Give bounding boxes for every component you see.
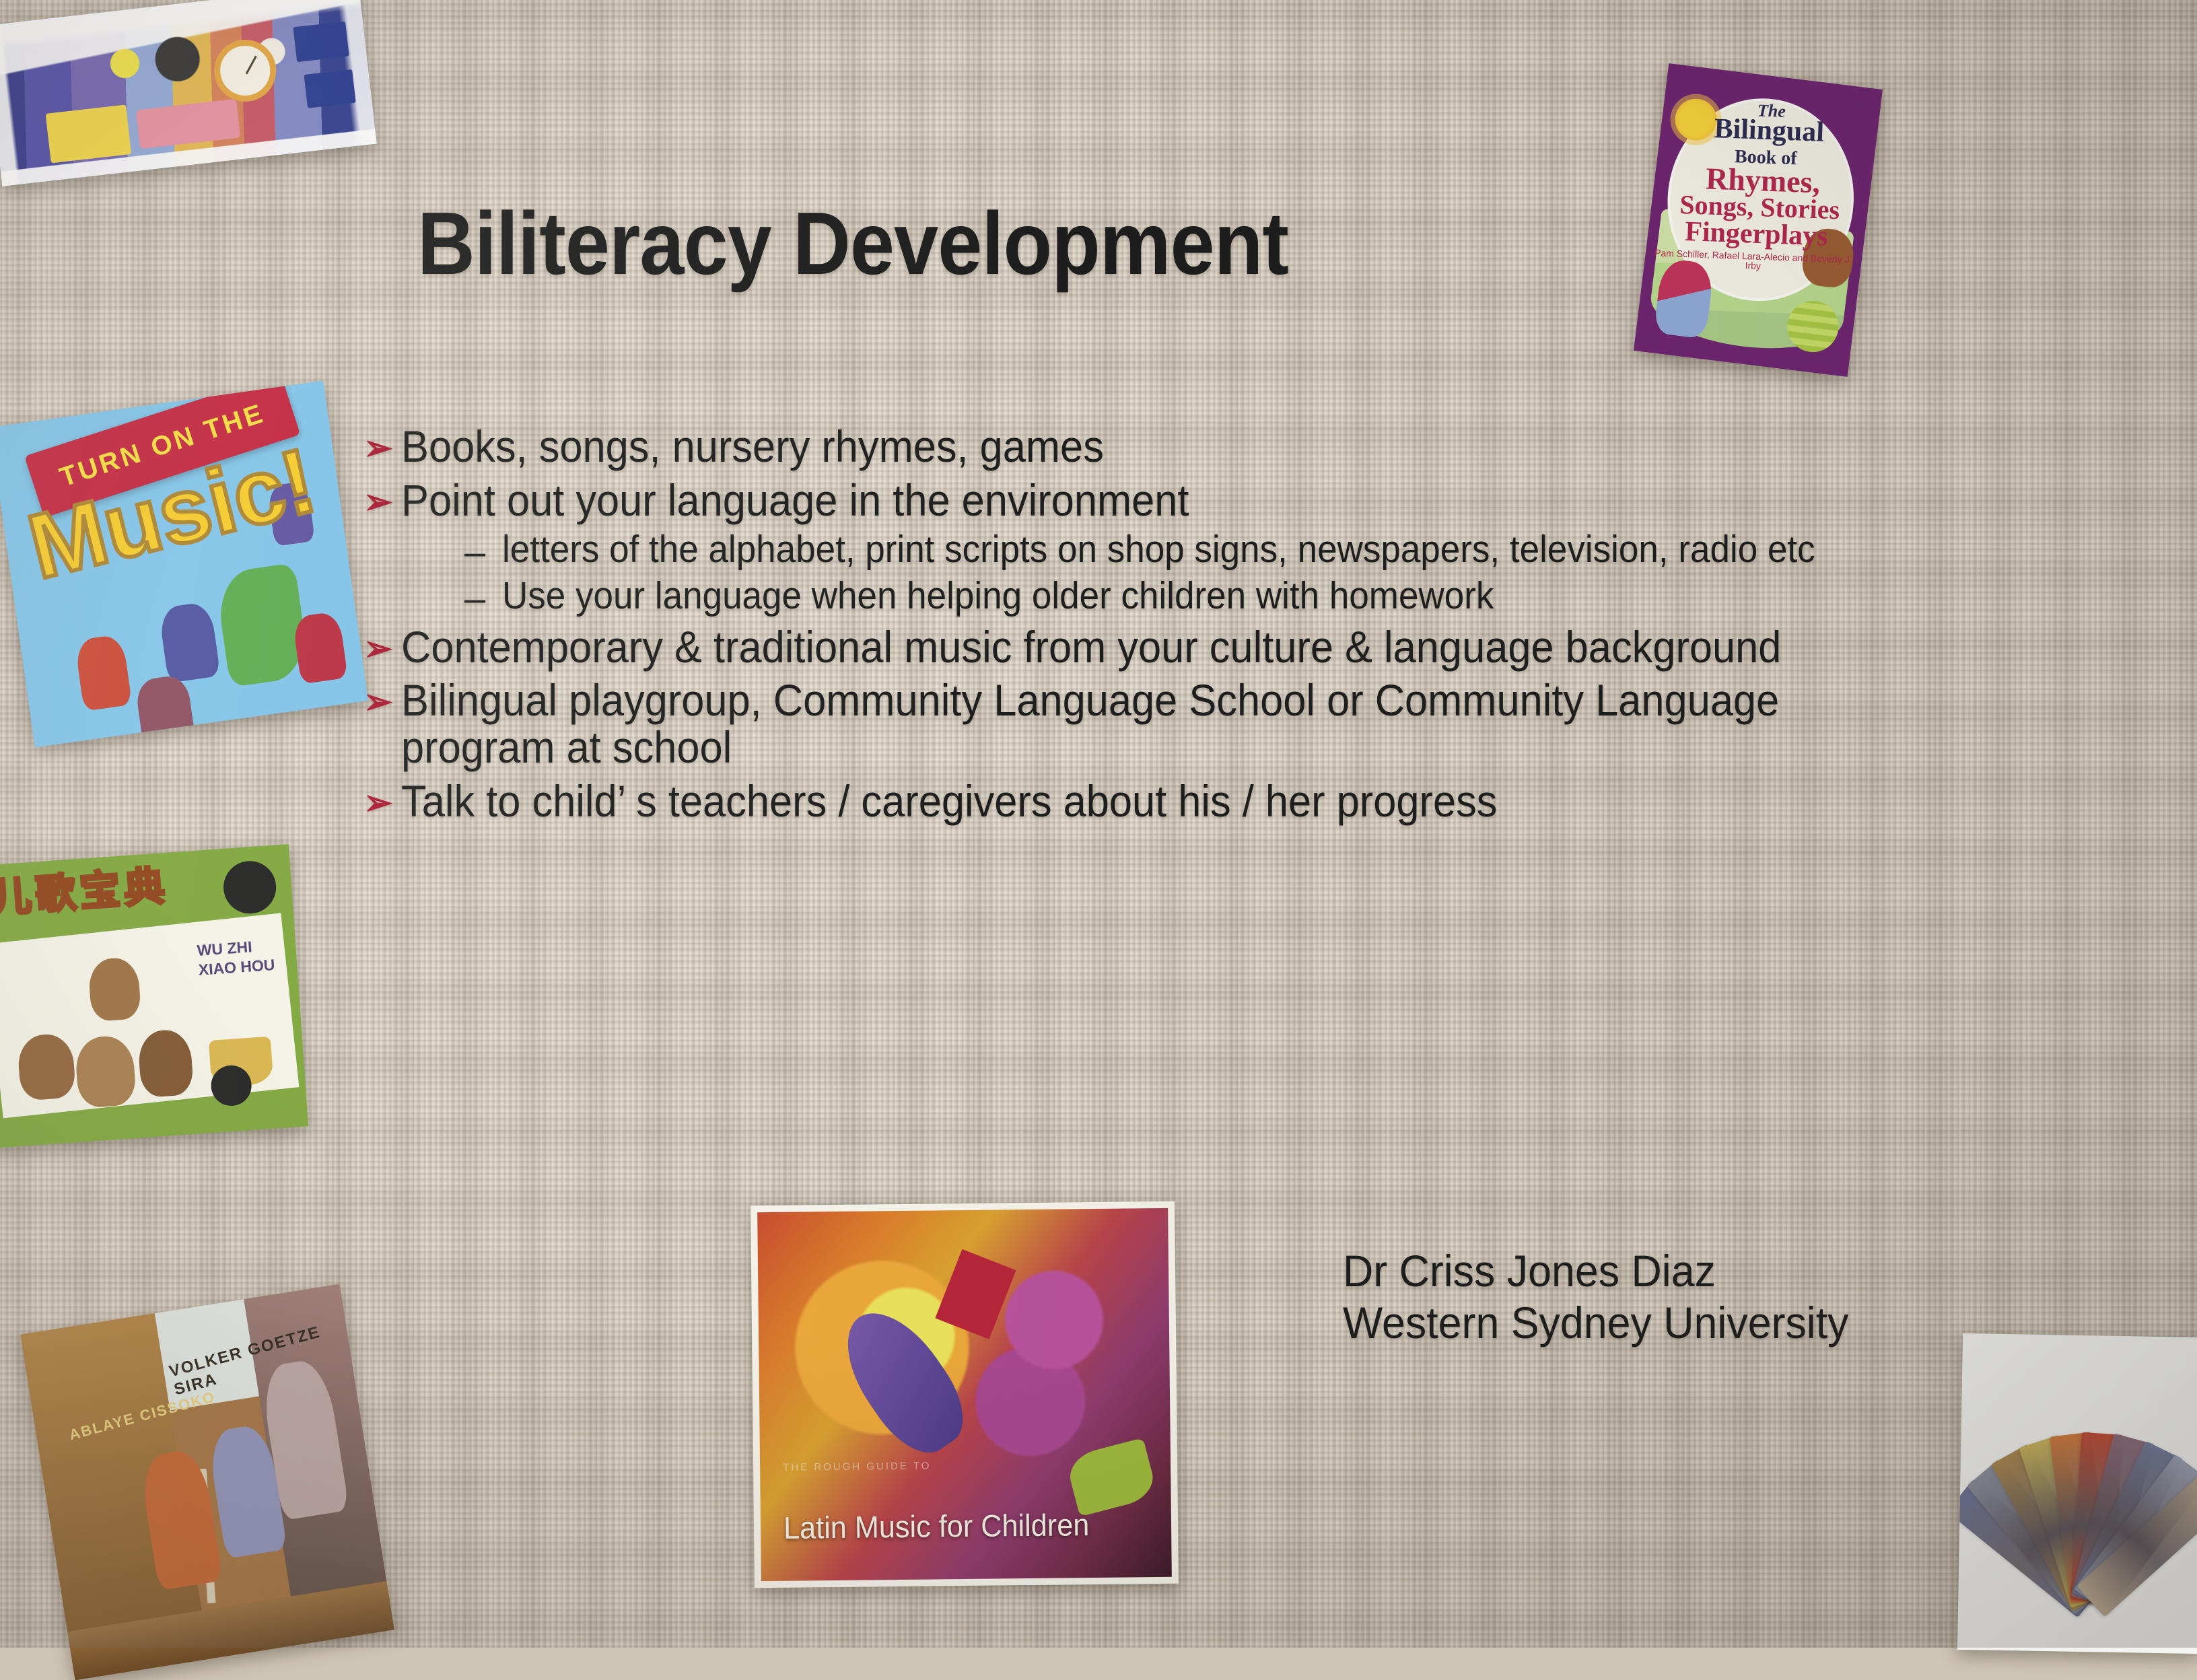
bullet-text: Talk to child’ s teachers / caregivers a…: [401, 775, 1906, 825]
sub-bullet-item: –letters of the alphabet, print scripts …: [464, 528, 2019, 572]
bullet-item: ➢Bilingual playgroup, Community Language…: [363, 674, 2019, 771]
photo-volker-goetze-cd: VOLKER GOETZE SIRA ABLAYE CISSOKO: [20, 1284, 394, 1680]
photo-chinese-song-book: 儿歌宝典 WU ZHI XIAO HOU: [0, 844, 308, 1148]
bullet-list: ➢Books, songs, nursery rhymes, games➢Poi…: [363, 421, 2019, 829]
bullet-text: Books, songs, nursery rhymes, games: [401, 421, 1906, 470]
page-title: Biliteracy Development: [417, 193, 1288, 294]
collage-yellow-block: [46, 104, 132, 163]
music-figure-3: [292, 610, 348, 684]
attribution-block: Dr Criss Jones Diaz Western Sydney Unive…: [1343, 1245, 1849, 1349]
bullet-item: ➢Point out your language in the environm…: [363, 475, 2019, 524]
chinese-cover-badge-1: [221, 860, 277, 915]
bullet-text: Point out your language in the environme…: [401, 475, 1906, 524]
bullet-arrow-icon: ➢: [363, 775, 401, 821]
bullet-arrow-icon: ➢: [363, 475, 401, 520]
music-figure-1: [74, 634, 132, 711]
sub-bullet-dash-icon: –: [464, 528, 502, 572]
sub-bullet-item: –Use your language when helping older ch…: [464, 575, 2019, 619]
latin-title: Latin Music for Children: [783, 1506, 1090, 1546]
bullet-arrow-icon: ➢: [363, 674, 401, 720]
collage-blue-block-2: [304, 69, 355, 108]
latin-subtitle: THE ROUGH GUIDE TO: [783, 1460, 931, 1473]
bullet-item: ➢Books, songs, nursery rhymes, games: [363, 421, 2019, 470]
sub-bullet-dash-icon: –: [464, 575, 502, 619]
bullet-item: ➢Talk to child’ s teachers / caregivers …: [363, 775, 2019, 825]
collage-blue-block-1: [293, 22, 349, 62]
photo-bilingual-rhymes-book: The Bilingual Book of Rhymes, Songs, Sto…: [1634, 63, 1883, 377]
sub-bullet-text: letters of the alphabet, print scripts o…: [502, 528, 1913, 571]
bullet-arrow-icon: ➢: [363, 621, 401, 667]
bullet-arrow-icon: ➢: [363, 421, 401, 466]
photo-latin-music-for-children-cd: THE ROUGH GUIDE TO Latin Music for Child…: [751, 1201, 1179, 1588]
photo-fanned-book-spread: [1957, 1333, 2197, 1654]
photo-turn-on-the-music-cd: TURN ON THE Music!: [0, 381, 368, 748]
bullet-text: Bilingual playgroup, Community Language …: [401, 674, 1906, 771]
bullet-text: Contemporary & traditional music from yo…: [401, 621, 1906, 671]
presenter-affiliation: Western Sydney University: [1343, 1297, 1849, 1349]
music-figure-2: [158, 601, 221, 683]
music-green-shape: [215, 563, 310, 687]
presenter-name: Dr Criss Jones Diaz: [1343, 1245, 1849, 1297]
sub-bullet-text: Use your language when helping older chi…: [502, 575, 1913, 617]
bullet-item: ➢Contemporary & traditional music from y…: [363, 621, 2019, 671]
chinese-book-pinyin: WU ZHI XIAO HOU: [197, 936, 275, 979]
chinese-book-title: 儿歌宝典: [0, 860, 226, 921]
